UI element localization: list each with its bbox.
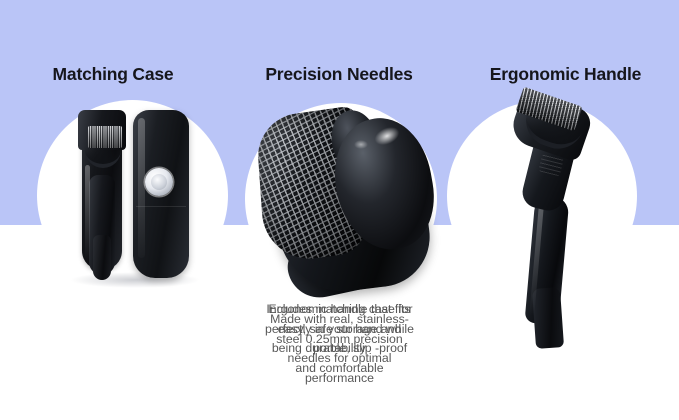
- roller-highlight: [85, 165, 90, 260]
- description-line: perfectly in your hand while: [265, 322, 414, 336]
- product-image-ergonomic-handle: [452, 0, 679, 330]
- product-image-matching-case: [0, 0, 226, 300]
- feature-description-ergonomic-handle: Ergonomic handle that fits perfectly in …: [0, 300, 679, 378]
- needle-drum-shading: [88, 126, 122, 148]
- roller-taper: [93, 235, 111, 280]
- product-image-precision-needles: [226, 0, 452, 300]
- product-shadow: [70, 272, 200, 288]
- description-line: Ergonomic handle that fits: [268, 302, 410, 316]
- case-highlight: [138, 118, 145, 258]
- bulb-highlight-secondary: [354, 140, 368, 149]
- case-seam: [136, 206, 186, 207]
- feature-graphic: Matching Case Includes matching case for…: [0, 0, 679, 420]
- feature-heading-ergonomic-handle: Ergonomic Handle: [452, 64, 679, 85]
- description-line: being durable, slip -proof: [272, 341, 407, 355]
- brand-badge-inner-icon: [151, 174, 167, 190]
- feature-heading-matching-case: Matching Case: [0, 64, 226, 85]
- feature-heading-precision-needles: Precision Needles: [226, 64, 452, 85]
- description-line: and comfortable: [295, 361, 383, 375]
